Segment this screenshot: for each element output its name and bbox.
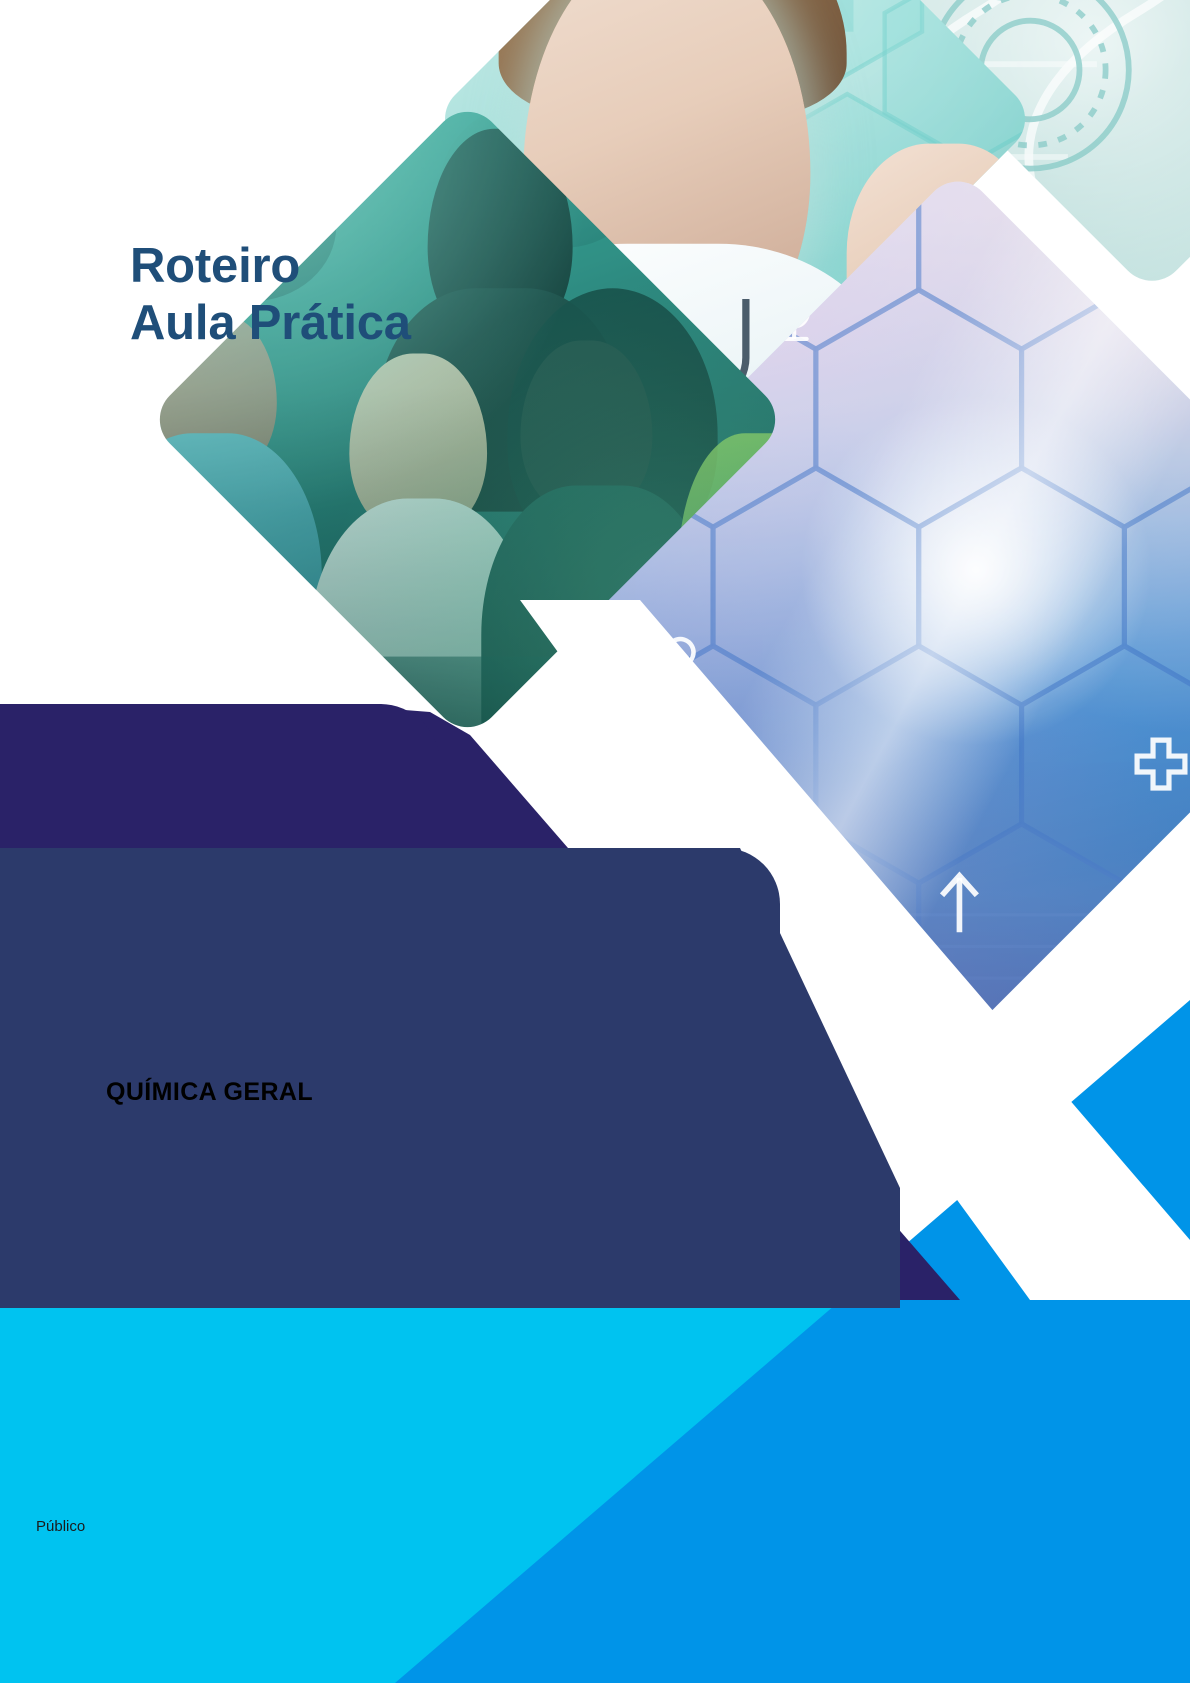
medical-cross-icon (1129, 732, 1190, 796)
up-arrow-icon (931, 867, 989, 937)
cover-page: 00-4f A01 FF39 ax 92 — 11 27 STRM a 6660… (0, 0, 1190, 1683)
title-line-2: Aula Prática (130, 295, 411, 352)
page-title: Roteiro Aula Prática (130, 238, 411, 352)
classification-label: Público (36, 1518, 85, 1535)
title-line-1: Roteiro (130, 238, 411, 295)
subject-title: QUÍMICA GERAL (106, 1078, 313, 1107)
